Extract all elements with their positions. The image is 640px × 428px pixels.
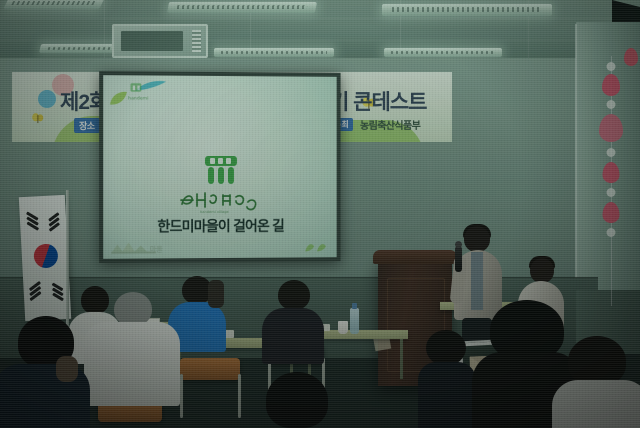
banner-tag-venue: 장소 [74, 118, 100, 133]
lectern-top [373, 250, 457, 264]
projection-screen-frame: handemi [99, 71, 340, 263]
banner-organization: 농림축산식품부 [360, 117, 420, 132]
chair-backrest [180, 358, 240, 380]
ceiling-grid-line [0, 40, 640, 41]
photo-scene: 제2회 기 콘테스트 장소 주최 농림축산식품부 handemi [0, 0, 640, 428]
foreground-audience-member [0, 316, 90, 428]
audience-member [84, 292, 180, 402]
brand-script-logo: handemi village [178, 188, 264, 214]
foreground-audience-member [256, 372, 348, 428]
foreground-audience-member [418, 330, 476, 428]
svg-text:handemi village: handemi village [200, 210, 229, 214]
microphone [455, 246, 462, 272]
slide-watermark-logo: handemi [113, 81, 159, 103]
sprout-icon [303, 240, 329, 252]
hanging-paper-mobile-upper [622, 46, 640, 86]
svg-text:마을: 마을 [150, 244, 164, 253]
water-bottle [350, 308, 359, 334]
panelist-head [530, 258, 554, 283]
banner-dot [38, 90, 56, 108]
butterfly-icon [30, 112, 46, 126]
village-logo-icon [201, 154, 241, 186]
slide-title: 한드미마을이 걸어온 길 [103, 216, 336, 237]
projection-screen: handemi [103, 75, 336, 259]
banner-title-right: 기 콘테스트 [330, 86, 426, 116]
paper-cup [338, 321, 348, 334]
svg-text:handemi: handemi [128, 95, 148, 101]
ceiling-grid-line [0, 18, 640, 19]
ceiling-light-fixture [382, 4, 552, 16]
audience-member [262, 280, 324, 360]
hanging-paper-mobile [596, 56, 626, 306]
village-illustration-icon: 마을 [109, 236, 170, 254]
ceiling-light-fixture [167, 2, 317, 13]
presenter-head [464, 226, 490, 252]
taeguk-symbol [29, 239, 62, 272]
ceiling-light-fixture [214, 48, 334, 57]
korean-flag [19, 195, 71, 321]
ceiling-light-fixture [3, 0, 104, 9]
ceiling-air-conditioner [112, 24, 208, 58]
ceiling-light-fixture [384, 48, 502, 57]
foreground-audience-member [556, 336, 640, 428]
